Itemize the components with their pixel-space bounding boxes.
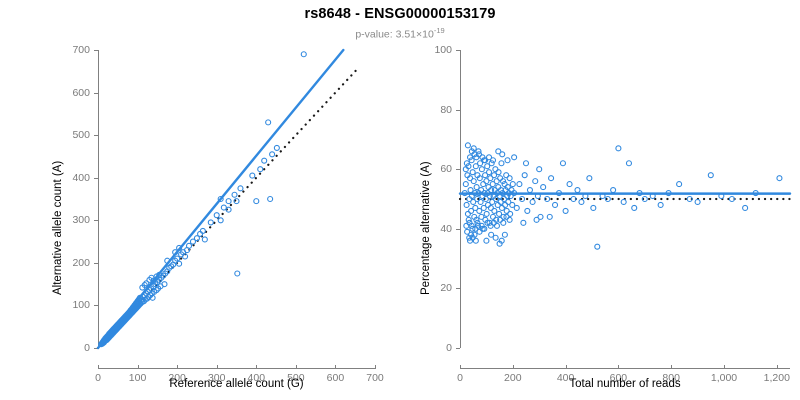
scatter-series [99,52,307,347]
scatter-point [525,208,530,213]
scatter-point [499,161,504,166]
scatter-point [567,182,572,187]
scatter-point [514,205,519,210]
scatter-point [496,149,501,154]
scatter-point [494,223,499,228]
scatter-point [524,161,529,166]
scatter-point [743,205,748,210]
scatter-point [510,182,515,187]
scatter-point [187,243,192,248]
scatter-point [464,223,469,228]
scatter-point [507,217,512,222]
scatter-point [677,182,682,187]
scatter-point [502,232,507,237]
plot-data-layer [400,0,800,400]
scatter-point [301,52,306,57]
scatter-point [501,220,506,225]
scatter-point [621,199,626,204]
scatter-point [250,173,255,178]
scatter-point [541,185,546,190]
scatter-point [465,143,470,148]
scatter-point [505,158,510,163]
scatter-point [512,155,517,160]
scatter-point [465,211,470,216]
scatter-point [533,179,538,184]
scatter-point [547,214,552,219]
scatter-point [498,176,503,181]
scatter-point [503,202,508,207]
scatter-point [477,229,482,234]
scatter-point [563,208,568,213]
scatter-point [481,182,486,187]
regression-line [98,50,343,348]
scatter-point [266,120,271,125]
scatter-point [274,145,279,150]
scatter-point [587,176,592,181]
scatter-point [262,158,267,163]
scatter-point [470,170,475,175]
scatter-point [232,192,237,197]
scatter-point [579,199,584,204]
scatter-point [270,152,275,157]
scatter-point [595,244,600,249]
scatter-point [527,188,532,193]
scatter-point [471,179,476,184]
scatter-point [611,188,616,193]
scatter-point [484,211,489,216]
panel-percentage-alternative: 02040608010002004006008001,0001,200Perce… [400,0,800,400]
scatter-point [258,167,263,172]
scatter-point [591,205,596,210]
scatter-point [254,199,259,204]
scatter-point [616,146,621,151]
plot-data-layer [0,0,400,400]
scatter-point [517,182,522,187]
scatter-point [496,170,501,175]
scatter-point [488,223,493,228]
scatter-point [484,238,489,243]
scatter-point [534,217,539,222]
scatter-point [575,188,580,193]
scatter-point [632,205,637,210]
scatter-point [214,213,219,218]
scatter-point [473,238,478,243]
scatter-point [238,186,243,191]
scatter-point [553,202,558,207]
scatter-point [507,176,512,181]
scatter-point [268,197,273,202]
scatter-point [464,202,469,207]
scatter-point [777,176,782,181]
scatter-point [560,161,565,166]
scatter-point [489,232,494,237]
scatter-point [466,217,471,222]
scatter-point [202,237,207,242]
scatter-point [208,220,213,225]
scatter-point [226,199,231,204]
scatter-point [492,208,497,213]
scatter-point [530,199,535,204]
scatter-point [626,161,631,166]
scatter-point [499,205,504,210]
scatter-point [521,220,526,225]
scatter-point [218,218,223,223]
scatter-point [695,199,700,204]
scatter-point [491,214,496,219]
scatter-series [462,143,782,249]
scatter-point [235,271,240,276]
scatter-point [522,173,527,178]
scatter-point [658,202,663,207]
scatter-point [463,182,468,187]
panel-allele-counts: 0100200300400500600700010020030040050060… [0,0,400,400]
figure-root: rs8648 - ENSG00000153179 p-value: 3.51×1… [0,0,800,400]
scatter-point [537,167,542,172]
scatter-point [708,173,713,178]
scatter-point [479,167,484,172]
scatter-point [162,282,167,287]
scatter-point [549,176,554,181]
scatter-point [487,170,492,175]
scatter-point [465,229,470,234]
scatter-point [493,167,498,172]
scatter-point [478,199,483,204]
